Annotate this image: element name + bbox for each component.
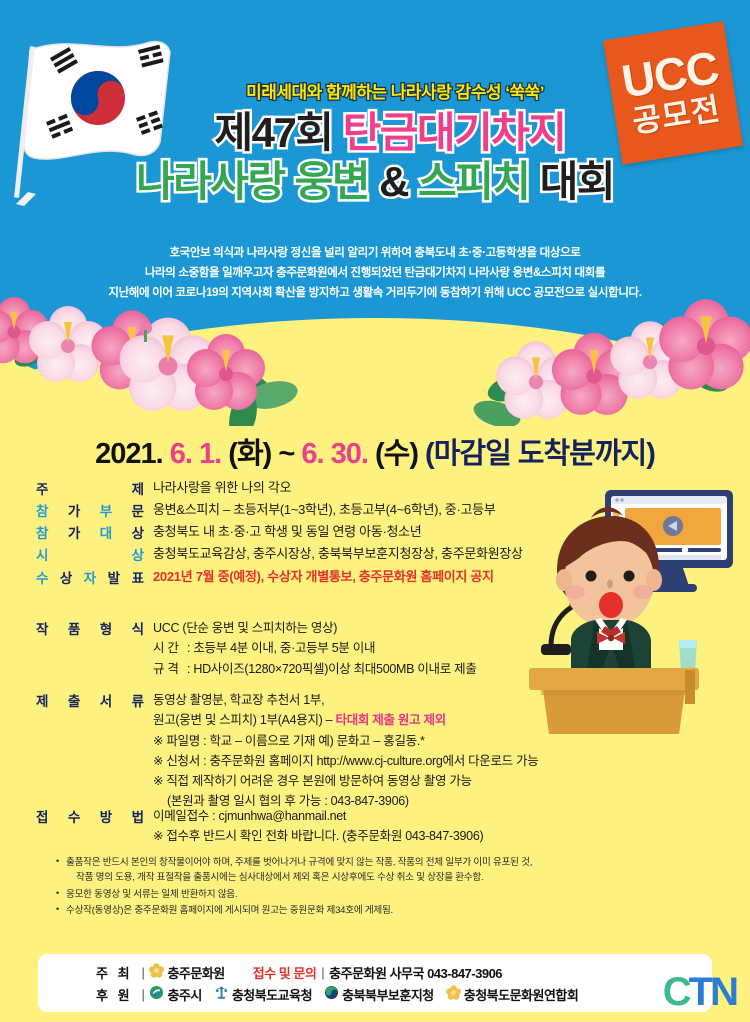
footer-host-org: 충주문화원 [149, 963, 224, 982]
apply-email-line: 이메일접수 : cjmunhwa@hanmail.net [153, 806, 483, 826]
format-line-spec: 규 격: HD사이즈(1280×720픽셀)이상 최대500MB 이내로 제출 [153, 659, 477, 679]
note-item-no-return: 응모한 동영상 및 서류는 일체 반환하지 않음. [56, 887, 716, 902]
documents-line-studio: ※ 직접 제작하기 어려운 경우 본원에 방문하여 동영상 촬영 가능 [153, 771, 538, 791]
intro-line-2: 나라의 소중함을 일깨우고자 충주문화원에서 진행되었던 탄금대기차지 나라사랑… [0, 263, 750, 283]
culture-federation-logo-icon [446, 985, 461, 1003]
headline-block: 미래세대와 함께하는 나라사랑 감수성 ‘쑥쑥’ 제47회 탄금대기차지 나라사… [0, 78, 750, 205]
footer-sep-2: | [321, 965, 324, 980]
date-start-month: 6. [170, 438, 192, 470]
documents-label: 제출서류 [36, 690, 144, 710]
title-ampersand: & [379, 158, 408, 205]
ctn-logo-tn: TN [689, 970, 736, 1014]
intro-line-1: 호국안보 의식과 나라사랑 정신을 널리 알리기 위하여 충북도내 초·중·고등… [0, 243, 750, 263]
footer-sep-3: | [142, 987, 145, 1002]
footer-host-key: 주 최 [96, 963, 133, 982]
info-label-topic: 주제 [36, 478, 144, 498]
how-to-apply-block: 접수방법 이메일접수 : cjmunhwa@hanmail.net ※ 접수후 … [36, 806, 656, 849]
required-documents-block: 제출서류 동영상 촬영분, 학교장 추천서 1부, 원고(웅변 및 스피치) 1… [36, 690, 656, 814]
footer-contact-label: 접수 및 문의 [253, 963, 317, 982]
date-end-day: 30. [331, 438, 368, 470]
info-row-topic: 주제 나라사랑을 위한 나의 각오 [36, 478, 636, 498]
footer-sponsor-education-office: 충청북도교육청 [214, 985, 312, 1004]
footer-host-name: 충주문화원 [167, 963, 224, 982]
footer-contact-value: 충주문화원 사무국 043-847-3906 [329, 963, 502, 982]
documents-line-1: 동영상 촬영분, 학교장 추천서 1부, [153, 690, 538, 710]
info-value-topic: 나라사랑을 위한 나의 각오 [144, 478, 291, 498]
footer-sponsor-row: 후 원 | 충주시 [96, 985, 712, 1004]
info-row-announcement: 수상자발표 2021년 7월 중(예정), 수상자 개별통보, 충주문화원 홈페… [36, 567, 636, 587]
chungju-city-logo-icon [149, 985, 164, 1003]
date-end-month: 6. [301, 438, 323, 470]
documents-line-application: ※ 신청서 : 충주문화원 홈페이지 http://www.cj-culture… [153, 751, 538, 771]
format-line-duration: 시 간: 초등부 4분 이내, 중·고등부 5분 이내 [153, 638, 477, 658]
format-spec-key: 규 격 [153, 659, 187, 679]
info-value-awards: 충청북도교육감상, 충주시장상, 충북북부보훈지청장상, 충주문화원장상 [144, 544, 523, 564]
footer-sponsor-0-name: 충주시 [167, 985, 201, 1004]
title-event-name: 탄금대기차지 [343, 109, 566, 156]
headline-kicker: 미래세대와 함께하는 나라사랑 감수성 ‘쑥쑥’ [0, 78, 750, 103]
info-label-awards: 시상 [36, 544, 144, 564]
chungbuk-education-logo-icon [214, 985, 229, 1003]
ctn-logo: CTN [663, 972, 736, 1012]
note-originality-line-1: 출품작은 반드시 본인의 창작물이어야 하며, 주제를 벗어나거나 규격에 맞지… [66, 857, 532, 868]
info-label-divisions: 참가부문 [36, 500, 144, 520]
title-competition: 대회 [540, 158, 614, 205]
info-table: 주제 나라사랑을 위한 나의 각오 참가부문 웅변&스피치 – 초등저부(1~3… [36, 478, 636, 589]
documents-line-2: 원고(웅변 및 스피치) 1부(A4용지) – 타대회 제출 원고 제외 [153, 710, 538, 730]
documents-manuscript-text: 원고(웅변 및 스피치) 1부(A4용지) – [153, 713, 332, 727]
note-item-publication: 수상작(동영상)은 충주문화원 홈페이지에 게시되며 원고는 중원문화 제34호… [56, 903, 716, 918]
hibiscus-flower-border [0, 296, 750, 426]
submission-period: 2021. 6. 1. (화) ~ 6. 30. (수) (마감일 도착분까지) [0, 430, 750, 472]
ctn-logo-c: C [663, 970, 689, 1014]
footer-sponsor-chungju-city: 충주시 [149, 985, 201, 1004]
date-deadline-note: (마감일 도착분까지) [425, 438, 655, 470]
date-start-day: 1. [199, 438, 221, 470]
footer-sponsor-veterans-office: 충북북부보훈지청 [324, 985, 434, 1004]
info-value-divisions: 웅변&스피치 – 초등저부(1~3학년), 초등고부(4~6학년), 중·고등부 [144, 500, 495, 520]
footer-sep-1: | [142, 965, 145, 980]
headline-line-2: 나라사랑 웅변 & 스피치 대회 [0, 158, 750, 205]
info-label-eligibility: 참가대상 [36, 522, 144, 542]
veterans-affairs-logo-icon [324, 985, 339, 1003]
title-edition: 제47회 [214, 109, 332, 156]
title-oratory: 나라사랑 웅변 [136, 158, 369, 205]
footer-sponsor-1-name: 충청북도교육청 [232, 985, 312, 1004]
title-speech: 스피치 [418, 158, 529, 205]
format-spec-value: : HD사이즈(1280×720픽셀)이상 최대500MB 이내로 제출 [187, 662, 477, 676]
note-item-originality: 출품작은 반드시 본인의 창작물이어야 하며, 주제를 벗어나거나 규격에 맞지… [56, 855, 716, 886]
poster-root: UCC 공모전 미래세대와 함께하는 나라사랑 감수성 ‘쑥쑥’ 제47회 탄금… [0, 0, 750, 1022]
footer-sponsor-culture-federation: 충청북도문화원연합회 [446, 985, 579, 1004]
footer-sponsor-2-name: 충북북부보훈지청 [342, 985, 434, 1004]
documents-line-filename: ※ 파일명 : 학교 – 이름으로 기재 예) 문화고 – 홍길동.* [153, 731, 538, 751]
footer-host-row: 주 최 | 충주문화원 접수 및 문의 | 충주문화원 사무국 043-847-… [96, 963, 712, 982]
apply-label: 접수방법 [36, 806, 144, 826]
info-value-announcement: 2021년 7월 중(예정), 수상자 개별통보, 충주문화원 홈페이지 공지 [144, 567, 494, 587]
intro-paragraph: 호국안보 의식과 나라사랑 정신을 널리 알리기 위하여 충북도내 초·중·고등… [0, 243, 750, 303]
work-format-block: 작품형식 UCC (단순 웅변 및 스피치하는 영상) 시 간: 초등부 4분 … [36, 618, 656, 681]
documents-exclusion-note: 타대회 제출 원고 제외 [336, 713, 446, 727]
info-row-awards: 시상 충청북도교육감상, 충주시장상, 충북북부보훈지청장상, 충주문화원장상 [36, 544, 636, 564]
date-end-dow: (수) [375, 438, 418, 470]
note-originality-line-2: 작품 명의 도용, 개작 표절작을 출품시에는 심사대상에서 제외 혹은 시상후… [66, 870, 716, 885]
water-glass-graphic [679, 640, 697, 672]
headline-line-1: 제47회 탄금대기차지 [0, 109, 750, 156]
format-line-type: UCC (단순 웅변 및 스피치하는 영상) [153, 618, 477, 638]
info-row-divisions: 참가부문 웅변&스피치 – 초등저부(1~3학년), 초등고부(4~6학년), … [36, 500, 636, 520]
footer-sponsor-3-name: 충청북도문화원연합회 [464, 985, 579, 1004]
info-row-eligibility: 참가대상 충청북도 내 초·중·고 학생 및 동일 연령 아동·청소년 [36, 522, 636, 542]
date-start-dow: (화) [228, 438, 271, 470]
apply-confirm-line: ※ 접수후 반드시 확인 전화 바랍니다. (충주문화원 043-847-390… [153, 826, 483, 846]
info-label-announcement: 수상자발표 [36, 567, 144, 587]
flower-emblem-icon [149, 963, 164, 981]
format-duration-key: 시 간 [153, 638, 187, 658]
footer-organizers-box: 주 최 | 충주문화원 접수 및 문의 | 충주문화원 사무국 043-847-… [38, 954, 712, 1012]
format-duration-value: : 초등부 4분 이내, 중·고등부 5분 이내 [187, 641, 375, 655]
terms-notes-list: 출품작은 반드시 본인의 창작물이어야 하며, 주제를 벗어나거나 규격에 맞지… [56, 855, 716, 919]
date-year: 2021. [95, 438, 163, 470]
footer-sponsor-key: 후 원 [96, 985, 133, 1004]
format-label: 작품형식 [36, 618, 144, 638]
date-tilde: ~ [278, 438, 294, 470]
info-value-eligibility: 충청북도 내 초·중·고 학생 및 동일 연령 아동·청소년 [144, 522, 421, 542]
